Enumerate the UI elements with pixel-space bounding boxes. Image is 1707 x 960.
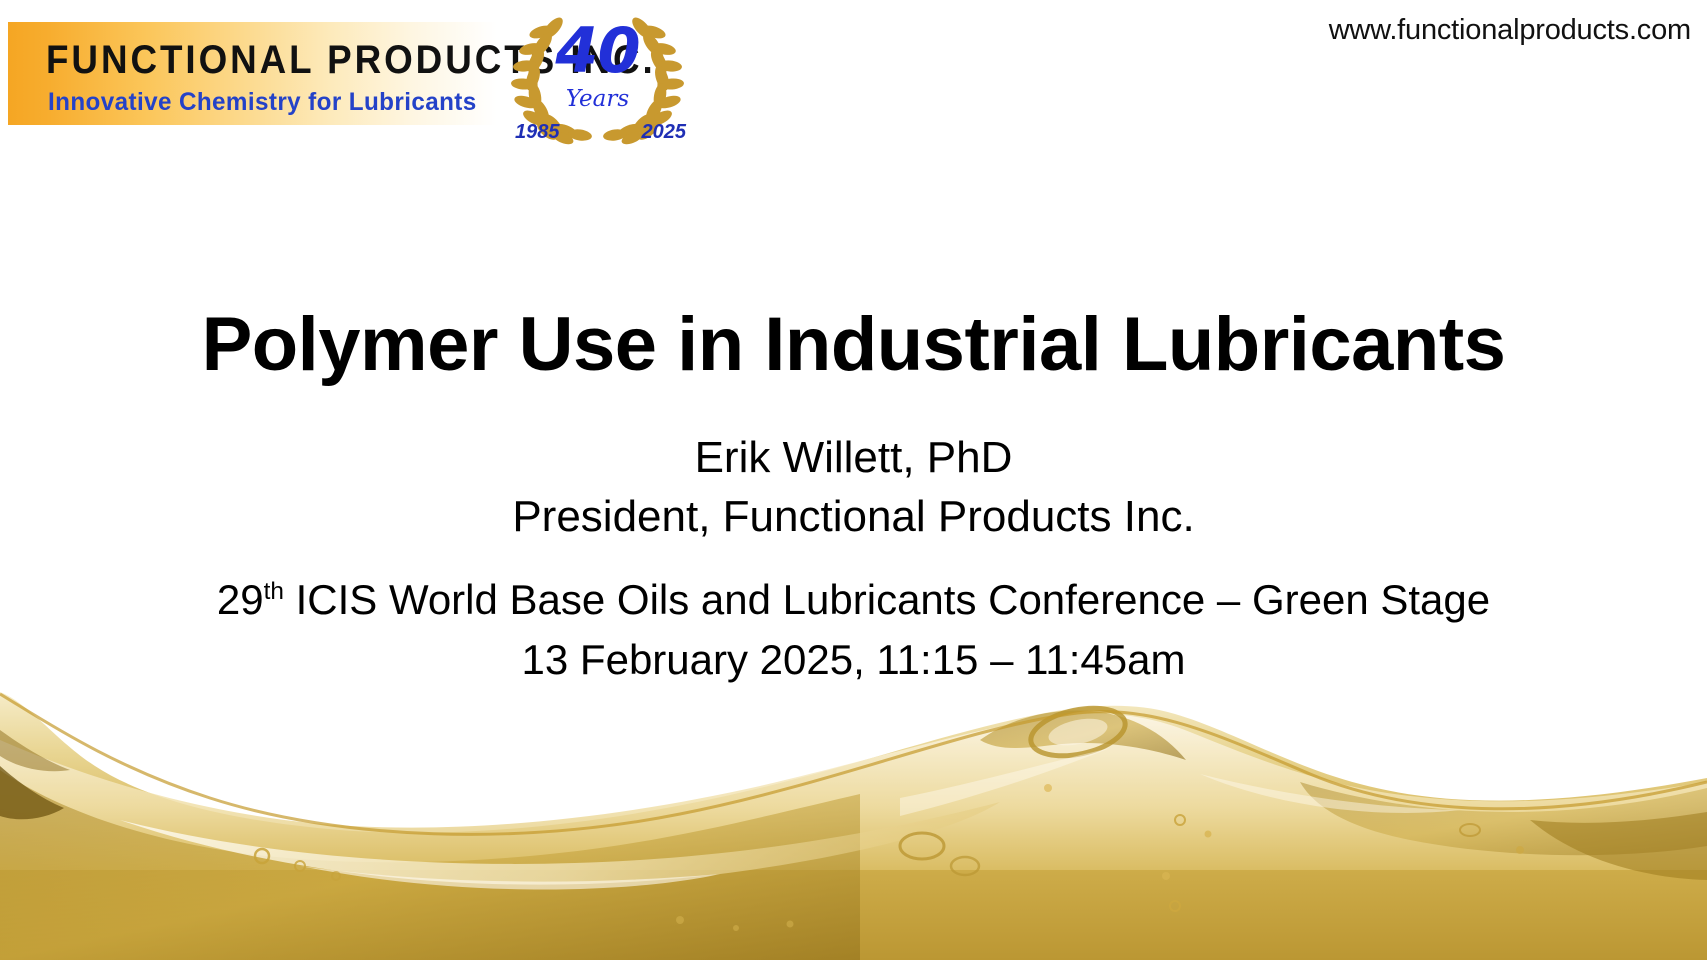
company-logo: FUNCTIONAL PRODUCTS INC. Innovative Chem… <box>8 22 528 125</box>
speaker-name: Erik Willett, PhD <box>0 428 1707 487</box>
anniversary-years-label: Years <box>566 88 629 111</box>
event-datetime: 13 February 2025, 11:15 – 11:45am <box>0 630 1707 690</box>
anniversary-end-year: 2025 <box>642 121 687 144</box>
event-info: 29th ICIS World Base Oils and Lubricants… <box>0 570 1707 689</box>
page-title: Polymer Use in Industrial Lubricants <box>0 301 1707 388</box>
anniversary-emblem: 40 Years 1985 2025 <box>505 4 690 146</box>
conference-ordinal-number: 29 <box>217 576 264 623</box>
conference-name: ICIS World Base Oils and Lubricants Conf… <box>284 576 1490 623</box>
anniversary-start-year: 1985 <box>515 121 560 144</box>
oil-wave-graphic <box>0 670 1707 960</box>
anniversary-number: 40 <box>555 20 639 82</box>
company-tagline-text: Innovative Chemistry for Lubricants <box>48 88 477 117</box>
speaker-role: President, Functional Products Inc. <box>0 487 1707 546</box>
conference-line: 29th ICIS World Base Oils and Lubricants… <box>0 570 1707 630</box>
conference-ordinal-suffix: th <box>264 578 284 605</box>
speaker-info: Erik Willett, PhD President, Functional … <box>0 428 1707 547</box>
website-url[interactable]: www.functionalproducts.com <box>1329 14 1691 47</box>
